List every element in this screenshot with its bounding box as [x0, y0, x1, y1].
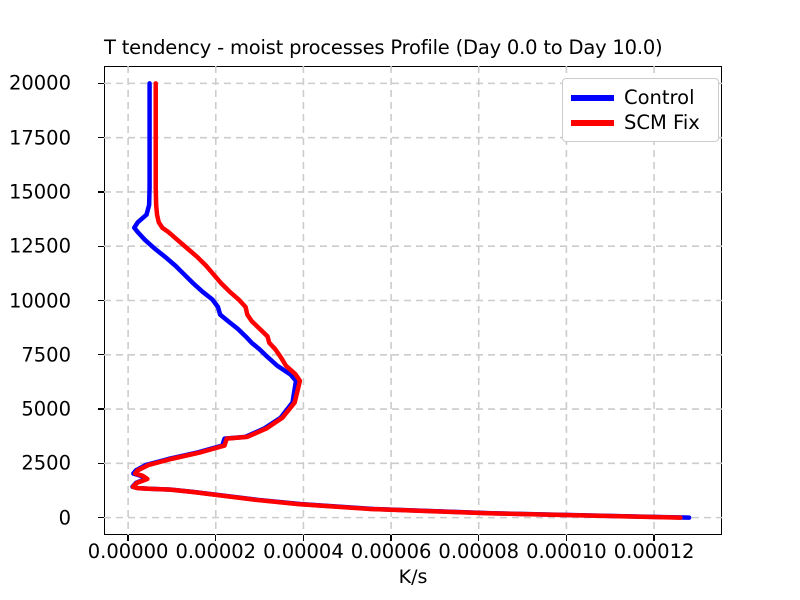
- y-tick-mark: [98, 246, 104, 247]
- legend-color-swatch: [571, 120, 614, 126]
- y-tick-mark: [98, 408, 104, 409]
- y-tick-label: 0: [59, 506, 71, 529]
- x-axis-label: K/s: [104, 566, 722, 588]
- x-tick-label: 0.00008: [438, 540, 519, 563]
- y-tick-mark: [98, 354, 104, 355]
- legend-label: Control: [624, 86, 695, 109]
- matplotlib-figure: T tendency - moist processes Profile (Da…: [0, 0, 800, 600]
- y-tick-label: 2500: [21, 452, 71, 475]
- y-tick-label: 15000: [9, 180, 71, 203]
- legend-color-swatch: [571, 95, 614, 101]
- y-tick-label: 10000: [9, 289, 71, 312]
- y-tick-mark: [98, 83, 104, 84]
- x-tick-label: 0.00002: [175, 540, 256, 563]
- y-tick-mark: [98, 517, 104, 518]
- y-tick-label: 12500: [9, 235, 71, 258]
- legend-item-control[interactable]: Control: [571, 85, 710, 110]
- x-tick-label: 0.00000: [88, 540, 169, 563]
- x-tick-label: 0.00012: [614, 540, 695, 563]
- x-tick-label: 0.00004: [263, 540, 344, 563]
- x-tick-label: 0.00010: [526, 540, 607, 563]
- y-tick-mark: [98, 137, 104, 138]
- y-tick-mark: [98, 463, 104, 464]
- chart-title: T tendency - moist processes Profile (Da…: [104, 36, 764, 59]
- y-tick-label: 7500: [21, 343, 71, 366]
- y-tick-label: 17500: [9, 126, 71, 149]
- y-tick-mark: [98, 300, 104, 301]
- x-tick-label: 0.00006: [351, 540, 432, 563]
- legend[interactable]: ControlSCM Fix: [562, 78, 719, 142]
- legend-item-scm-fix[interactable]: SCM Fix: [571, 110, 710, 135]
- y-tick-label: 5000: [21, 398, 71, 421]
- y-tick-mark: [98, 191, 104, 192]
- y-tick-label: 20000: [9, 72, 71, 95]
- legend-label: SCM Fix: [624, 111, 700, 134]
